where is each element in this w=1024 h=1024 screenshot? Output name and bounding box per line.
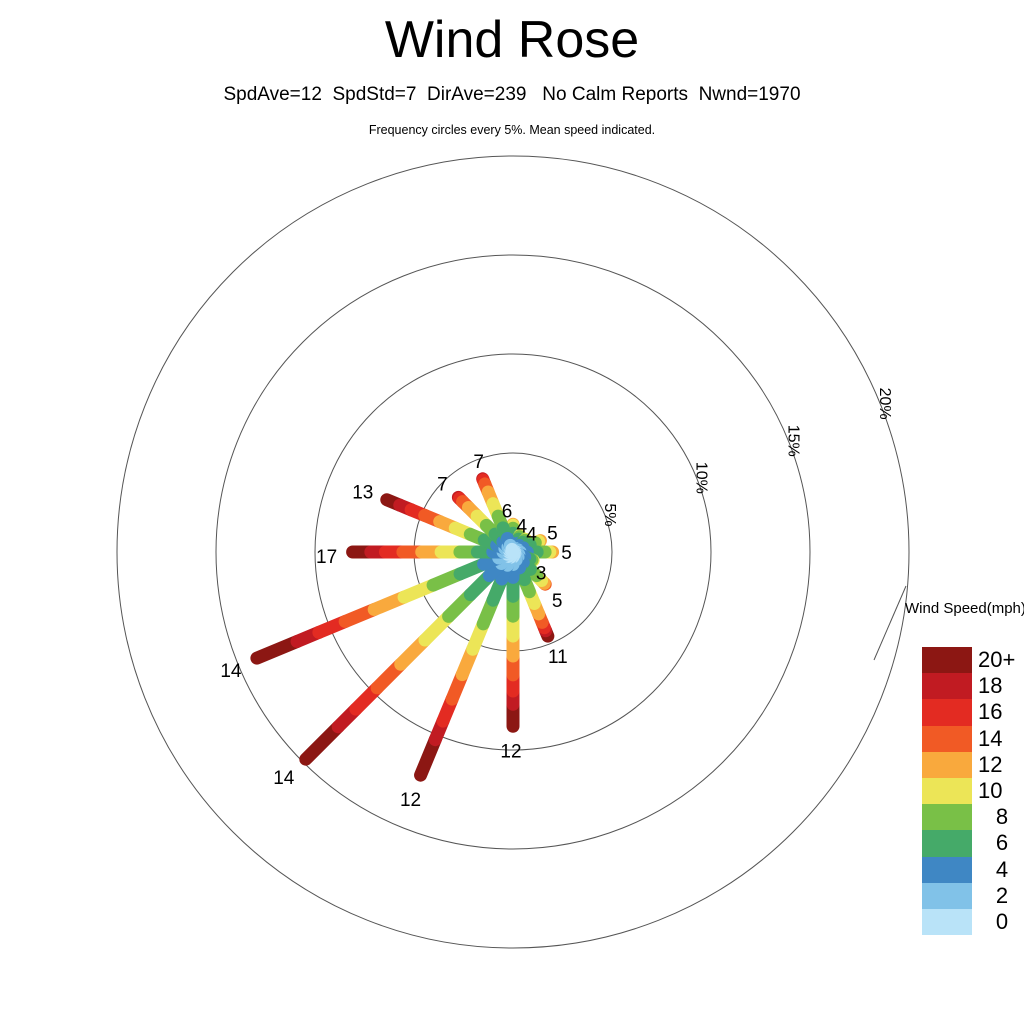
mean-speed-label-SE: 5 — [552, 591, 563, 612]
mean-speed-label-ESE: 3 — [536, 563, 547, 584]
legend-label-8: 8 — [978, 805, 1024, 829]
legend-label-4: 4 — [978, 858, 1024, 882]
legend-row: 12 — [922, 752, 972, 778]
legend-swatch-12 — [922, 752, 972, 778]
petal-segment-NNW-0 — [512, 549, 513, 552]
legend-row: 4 — [922, 857, 972, 883]
mean-speed-label-NNW: 7 — [473, 452, 484, 473]
legend-label-18: 18 — [978, 674, 1024, 698]
legend-label-12: 12 — [978, 753, 1024, 777]
wind-petals — [257, 479, 553, 775]
legend-label-14: 14 — [978, 727, 1024, 751]
mean-speed-label-SSW: 12 — [400, 790, 421, 811]
legend-leader-line — [874, 586, 906, 660]
mean-speed-label-ENE: 5 — [547, 524, 558, 545]
legend-swatch-14 — [922, 726, 972, 752]
legend-swatch-8 — [922, 804, 972, 830]
legend-swatch-16 — [922, 699, 972, 725]
ring-label-20: 20% — [876, 388, 893, 420]
legend-row: 18 — [922, 673, 972, 699]
ring-label-15: 15% — [784, 425, 801, 457]
windrose-figure: Wind Rose SpdAve=12 SpdStd=7 DirAve=239 … — [0, 0, 1024, 1024]
legend-swatch-18 — [922, 673, 972, 699]
legend-row: 16 — [922, 699, 972, 725]
mean-speed-label-E: 5 — [561, 543, 572, 564]
mean-speed-label-WSW: 14 — [220, 661, 242, 682]
mean-speed-label-W: 17 — [316, 547, 337, 568]
legend-swatch-20plus — [922, 647, 972, 673]
legend-row: 20+ — [922, 647, 972, 673]
legend-row: 0 — [922, 909, 972, 935]
legend-swatch-4 — [922, 857, 972, 883]
legend-label-0: 0 — [978, 910, 1024, 934]
legend-row: 8 — [922, 804, 972, 830]
legend-swatch-list: 20+181614121086420 — [922, 647, 972, 935]
petal-segment-SW-20+ — [306, 727, 338, 759]
mean-speed-label-SW: 14 — [273, 768, 295, 789]
ring-label-10: 10% — [693, 462, 710, 494]
legend-label-10: 10 — [978, 779, 1024, 803]
legend-label-2: 2 — [978, 884, 1024, 908]
mean-speed-label-WNW: 13 — [352, 483, 373, 504]
legend-row: 10 — [922, 778, 972, 804]
mean-speed-label-SSE: 11 — [548, 647, 568, 668]
frequency-ring-labels: 5%10%15%20% — [601, 388, 893, 527]
mean-speed-label-S: 12 — [500, 741, 521, 762]
legend-swatch-6 — [922, 830, 972, 856]
legend-title: Wind Speed(mph) — [905, 600, 1024, 617]
mean-speed-label-NE: 4 — [526, 524, 537, 545]
legend-label-16: 16 — [978, 700, 1024, 724]
legend-row: 14 — [922, 726, 972, 752]
petal-SW — [306, 552, 513, 759]
legend-row: 2 — [922, 883, 972, 909]
legend-label-6: 6 — [978, 831, 1024, 855]
legend-swatch-10 — [922, 778, 972, 804]
legend-label-20plus: 20+ — [978, 648, 1024, 672]
legend-swatch-2 — [922, 883, 972, 909]
legend-swatch-0 — [922, 909, 972, 935]
windrose-plot: 5%10%15%20% 64455351112121414171377 — [0, 0, 1024, 1024]
mean-speed-label-N: 6 — [502, 501, 513, 522]
mean-speed-label-NW: 7 — [437, 474, 448, 495]
legend-row: 6 — [922, 830, 972, 856]
ring-label-5: 5% — [601, 503, 618, 526]
petal-segment-WSW-20+ — [257, 641, 297, 658]
